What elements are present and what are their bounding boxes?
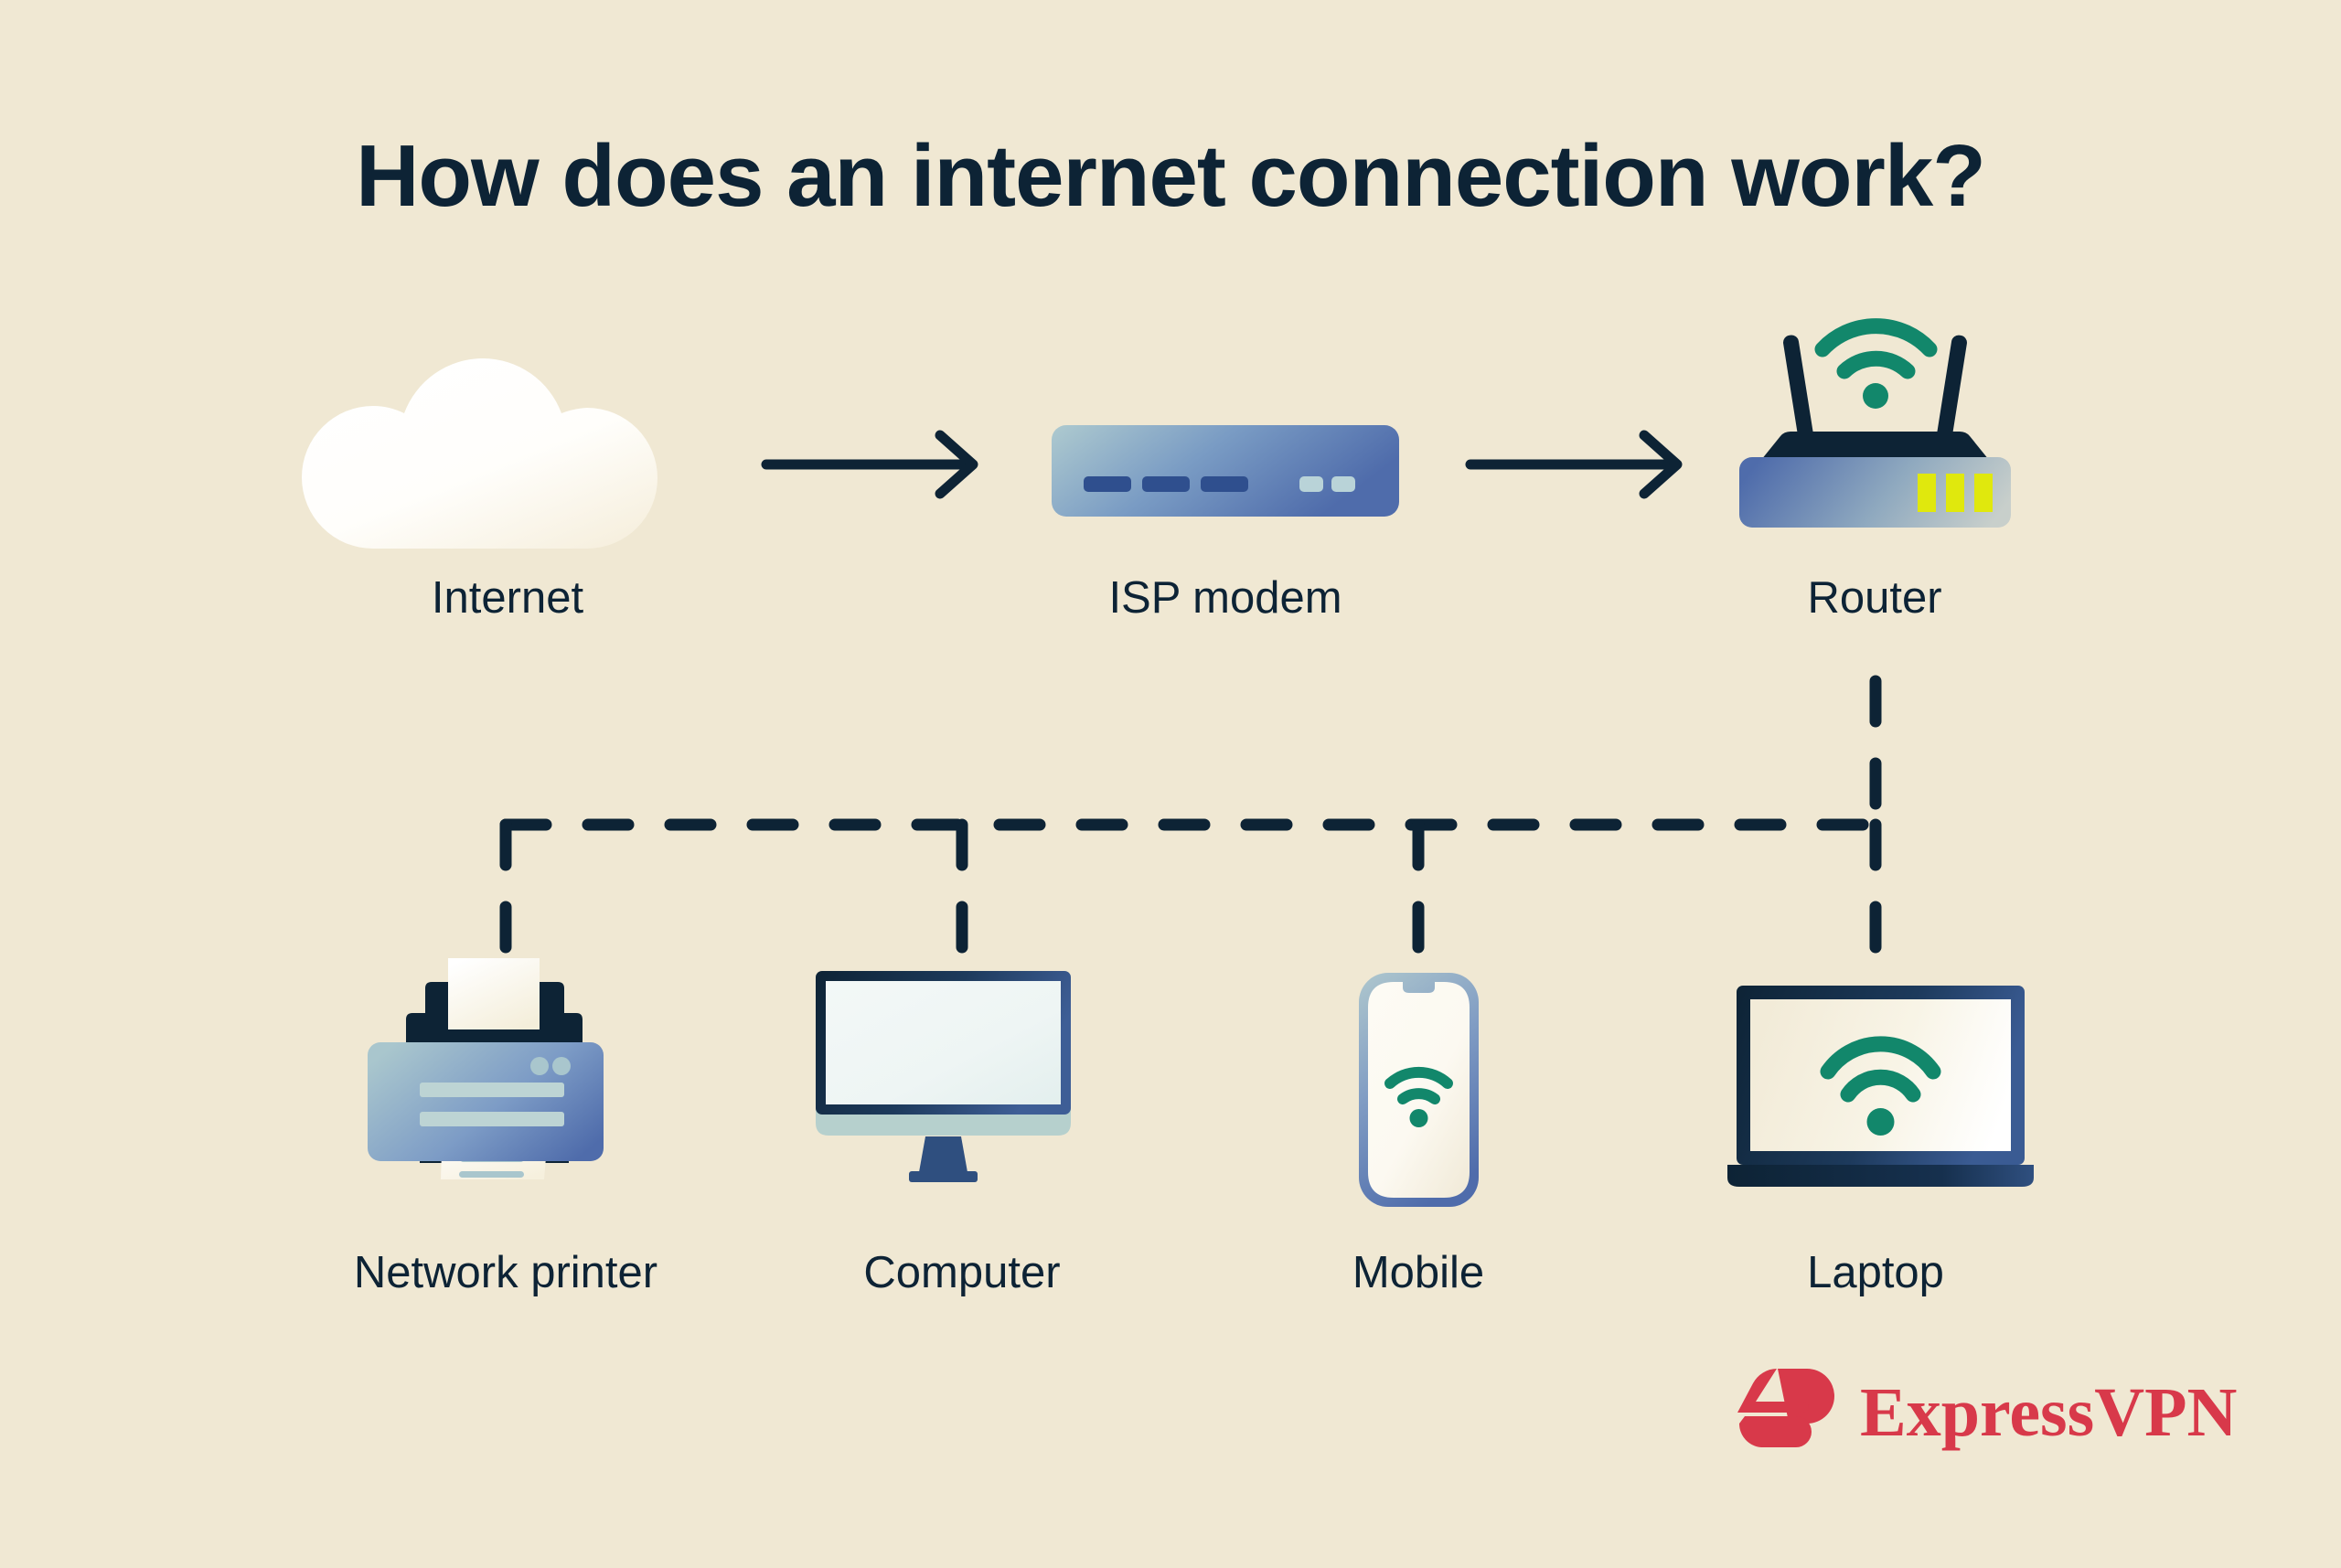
modem-port-1	[1084, 476, 1131, 492]
printer-indicator-1	[530, 1057, 549, 1075]
router-led-2	[1946, 474, 1964, 512]
router-antenna-left	[1782, 334, 1814, 443]
laptop-base	[1727, 1165, 2034, 1187]
printer-slot-2	[420, 1112, 564, 1126]
smartphone-icon	[1357, 971, 1480, 1209]
modem-port-3	[1201, 476, 1248, 492]
router-led-3	[1974, 474, 1993, 512]
expressvpn-e-mark-icon	[1737, 1367, 1840, 1458]
router-body	[1739, 457, 2011, 528]
label-laptop: Laptop	[1647, 1251, 2104, 1296]
connector-layer	[0, 0, 2341, 1568]
phone-wifi-dot	[1410, 1109, 1428, 1127]
page-title: How does an internet connection work?	[0, 128, 2341, 225]
printer-paper-line-3	[459, 1171, 524, 1178]
label-mobile: Mobile	[1190, 1251, 1647, 1296]
expressvpn-wordmark: ExpressVPN	[1860, 1378, 2237, 1447]
laptop-wifi-dot	[1867, 1108, 1895, 1136]
label-internet: Internet	[302, 576, 713, 621]
router-antenna-right	[1936, 334, 1968, 443]
printer-indicator-2	[552, 1057, 571, 1075]
arrow-modem-to-router	[1470, 435, 1677, 494]
label-router: Router	[1664, 576, 2085, 621]
node-internet[interactable]	[302, 338, 713, 549]
monitor-screen	[826, 981, 1061, 1104]
node-router[interactable]	[1728, 311, 2021, 530]
node-laptop[interactable]	[1727, 980, 2061, 1209]
arrow-internet-to-modem	[766, 435, 973, 494]
printer-input-paper	[448, 958, 540, 1029]
node-computer[interactable]	[814, 969, 1111, 1207]
modem-led-2	[1331, 476, 1355, 492]
printer-slot-1	[420, 1083, 564, 1097]
router-top-shell	[1761, 432, 1989, 460]
expressvpn-logo[interactable]: ExpressVPN	[1737, 1367, 2237, 1458]
printer-icon	[368, 958, 644, 1207]
laptop-icon	[1727, 980, 2061, 1209]
label-computer: Computer	[733, 1251, 1191, 1296]
monitor-stand-base	[909, 1171, 978, 1182]
modem-port-2	[1142, 476, 1190, 492]
desktop-monitor-icon	[814, 969, 1111, 1207]
modem-icon	[1052, 425, 1399, 517]
node-network-printer[interactable]	[368, 958, 644, 1207]
router-led-1	[1918, 474, 1936, 512]
node-mobile[interactable]	[1357, 971, 1480, 1209]
router-wifi-icon	[1823, 326, 1929, 371]
modem-led-1	[1299, 476, 1323, 492]
node-isp-modem[interactable]	[1052, 425, 1399, 517]
label-network-printer: Network printer	[277, 1251, 734, 1296]
router-icon	[1728, 311, 2021, 530]
cloud-icon	[302, 338, 713, 549]
router-wifi-dot	[1863, 383, 1888, 409]
monitor-stand-neck	[919, 1136, 967, 1172]
diagram-canvas: How does an internet connection work?	[0, 0, 2341, 1568]
label-isp-modem: ISP modem	[1015, 576, 1436, 621]
